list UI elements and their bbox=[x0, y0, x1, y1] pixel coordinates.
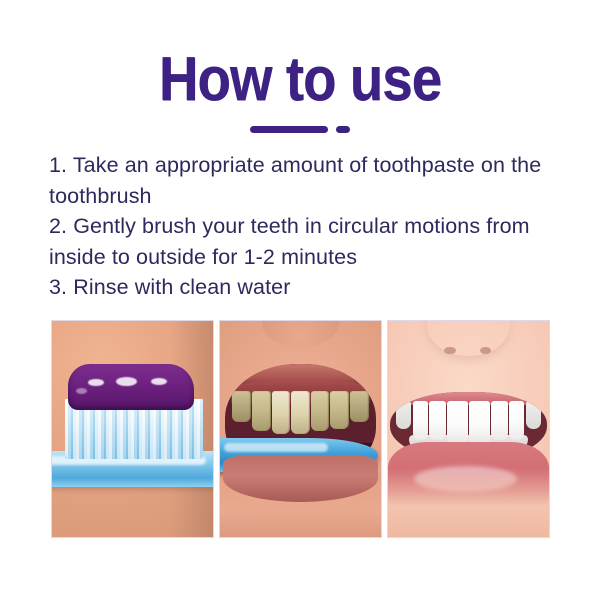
photo-strip bbox=[51, 320, 551, 538]
page-title: How to use bbox=[36, 48, 564, 112]
divider-bar-long bbox=[250, 126, 328, 133]
photo3-tooth bbox=[491, 401, 508, 440]
photo2-tooth bbox=[272, 391, 291, 434]
step-item-2: 2. Gently brush your teeth in circular m… bbox=[49, 211, 569, 272]
photo3-tooth bbox=[429, 401, 446, 440]
step-item-3: 3. Rinse with clean water bbox=[49, 272, 569, 303]
photo2-tooth bbox=[252, 391, 271, 431]
step-item-1: 1. Take an appropriate amount of toothpa… bbox=[49, 150, 569, 211]
photo2-stained-teeth bbox=[232, 391, 368, 429]
photo3-tooth bbox=[526, 401, 541, 429]
how-to-use-infographic: How to use 1. Take an appropriate amount… bbox=[0, 0, 600, 600]
photo3-tooth bbox=[413, 401, 428, 440]
title-block: How to use bbox=[0, 48, 600, 112]
divider-bar-short bbox=[336, 126, 350, 133]
photo3-tooth bbox=[396, 401, 411, 429]
photo1-paste-highlight bbox=[76, 388, 87, 394]
photo2-tooth bbox=[311, 391, 330, 431]
photo1-paste-highlight bbox=[88, 379, 104, 387]
photo-white-smile-result bbox=[387, 320, 550, 538]
photo1-purple-toothpaste bbox=[68, 364, 194, 409]
photo1-paste-highlight bbox=[116, 377, 137, 386]
title-divider bbox=[0, 126, 600, 133]
photo3-white-teeth bbox=[396, 401, 541, 440]
photo2-tooth bbox=[350, 391, 369, 422]
photo3-chin bbox=[388, 468, 549, 537]
photo1-paste-highlight bbox=[151, 378, 167, 385]
photo3-tooth bbox=[509, 401, 524, 440]
photo-brushing-stained-teeth bbox=[219, 320, 382, 538]
photo2-tooth bbox=[232, 391, 251, 422]
photo2-tooth bbox=[291, 391, 310, 434]
photo2-tooth bbox=[330, 391, 349, 429]
photo-toothbrush-with-purple-toothpaste bbox=[51, 320, 214, 538]
instruction-steps: 1. Take an appropriate amount of toothpa… bbox=[49, 150, 569, 303]
